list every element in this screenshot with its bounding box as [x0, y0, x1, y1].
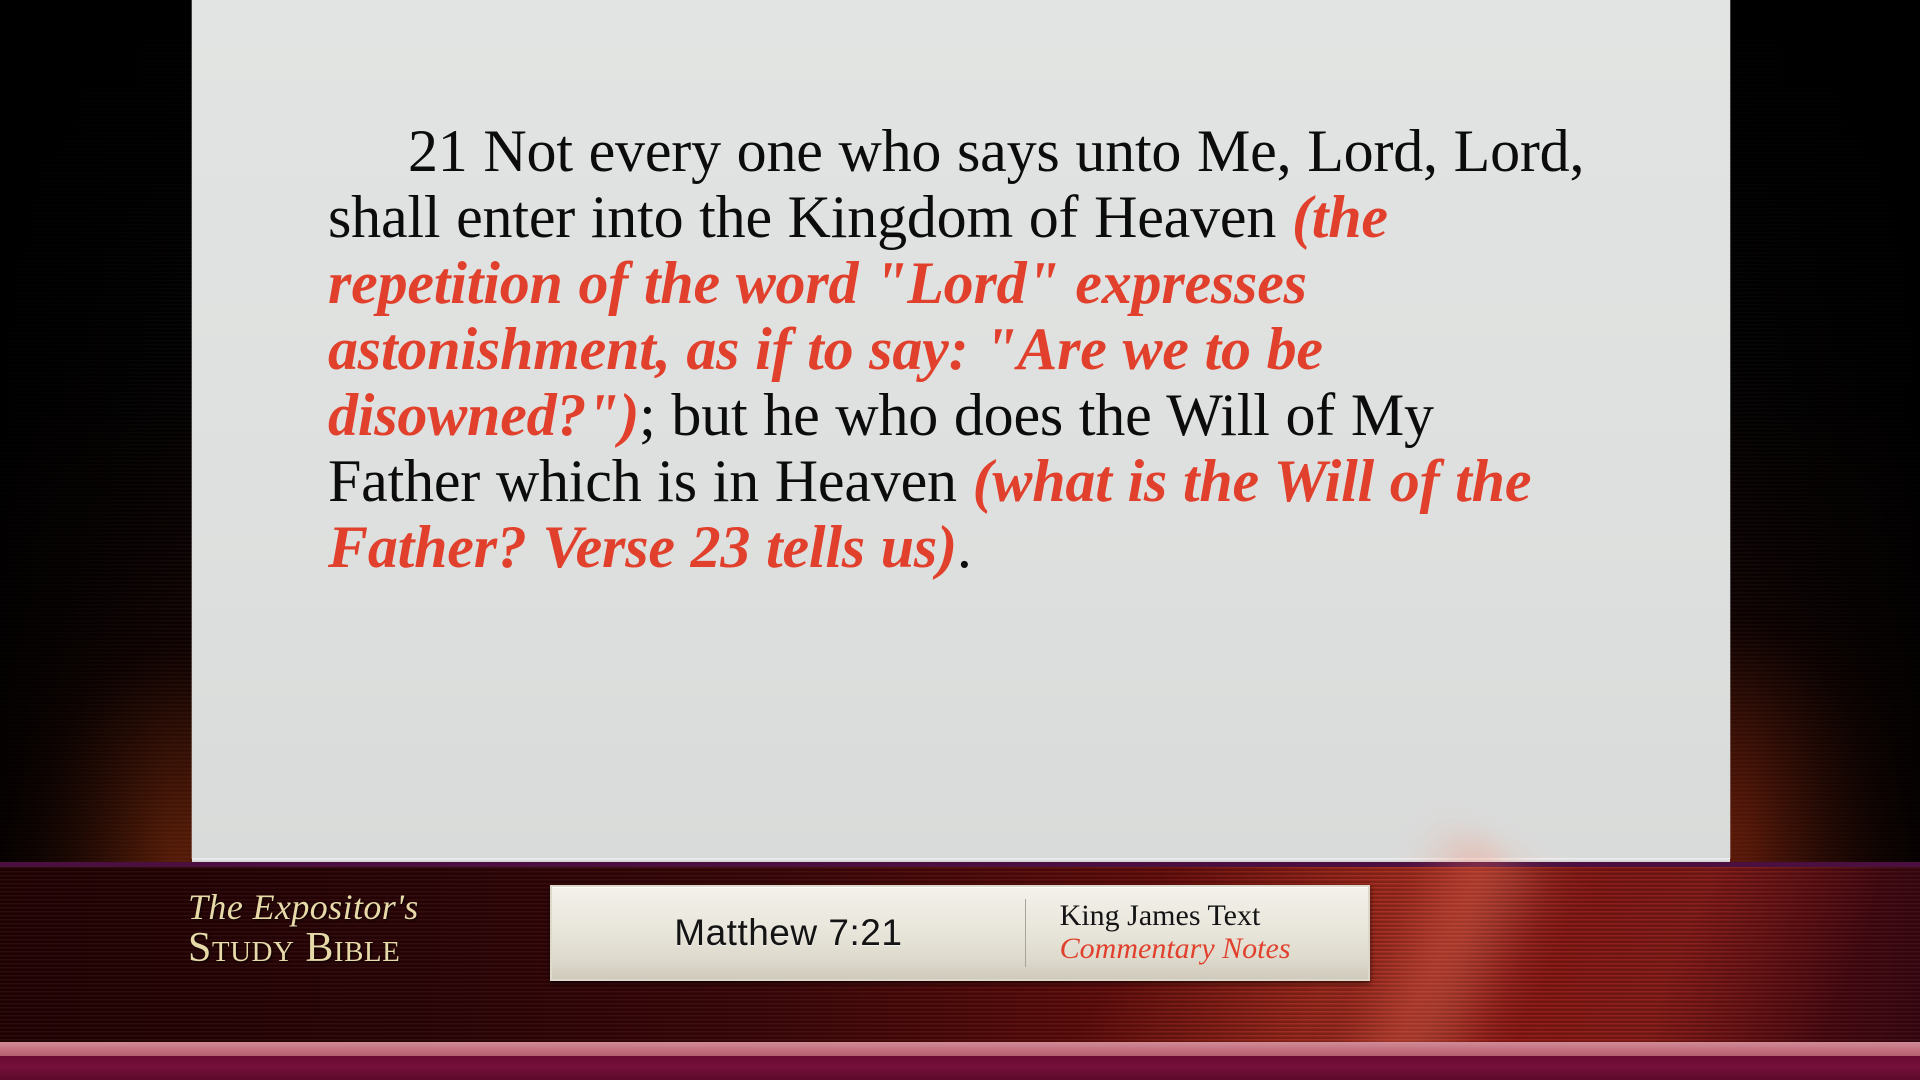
verse-segment-scripture-1: Not every one who says unto Me, Lord, Lo… [328, 118, 1584, 250]
reference-bar[interactable]: Matthew 7:21 King James Text Commentary … [550, 885, 1370, 981]
verse-segment-scripture-3: . [957, 514, 972, 580]
verse-number-space [468, 118, 484, 184]
verse-text-block: 21 Not every one who says unto Me, Lord,… [328, 118, 1600, 580]
reference-passage-label: Matthew 7:21 [674, 912, 902, 954]
presentation-slide: 21 Not every one who says unto Me, Lord,… [0, 0, 1920, 1080]
reference-commentary-notes-label: Commentary Notes [1060, 932, 1291, 966]
brand-logo: The Expositor's Study Bible [188, 889, 419, 969]
verse-panel: 21 Not every one who says unto Me, Lord,… [192, 0, 1730, 858]
footer-bar: The Expositor's Study Bible Matthew 7:21… [0, 862, 1920, 1042]
reference-king-james-text-label: King James Text [1060, 900, 1261, 932]
footer-accent-band [0, 1042, 1920, 1056]
verse-number: 21 [408, 118, 468, 184]
brand-line-one: The Expositor's [188, 889, 419, 925]
brand-line-two: Study Bible [188, 927, 419, 969]
footer-bottom-strip [0, 1056, 1920, 1080]
reference-passage-cell[interactable]: Matthew 7:21 [552, 887, 1025, 979]
reference-type-cell[interactable]: King James Text Commentary Notes [1026, 887, 1368, 979]
